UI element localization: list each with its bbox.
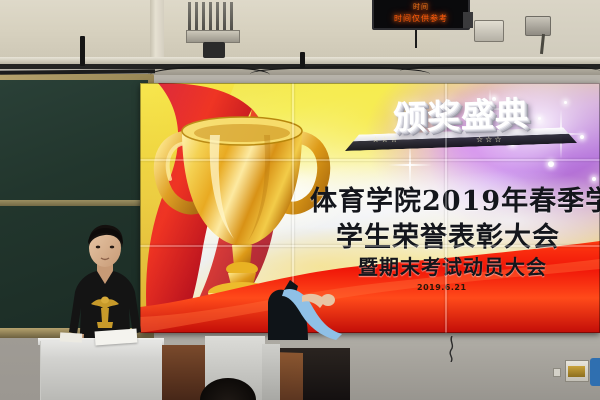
outlet-box-window <box>568 366 585 377</box>
person-reaching-at-screen <box>250 278 346 340</box>
banner-line-2: 学生荣誉表彰大会 <box>336 215 560 254</box>
headline-stars-left: ☆☆☆ <box>372 135 400 144</box>
wall-speaker <box>525 16 551 36</box>
cable-hanger-2 <box>300 52 305 68</box>
wall-led-clock-panel: 时间 时间仅供参考 <box>372 0 470 30</box>
blue-object <box>590 358 600 386</box>
banner-line-3: 暨期末考试动员大会 <box>358 251 547 280</box>
cable-hanger-1 <box>80 36 85 66</box>
banner-date: 2019.6.21 <box>417 283 467 292</box>
speaker-papers-secondary <box>60 332 82 342</box>
antenna-junction-box <box>203 42 225 58</box>
led-text-top: 时间 <box>413 2 429 13</box>
banner-line-1: 体育学院2019年春季学期 <box>310 179 600 218</box>
videowall-seam-horizontal <box>140 159 600 161</box>
sparkle-dot <box>548 161 554 167</box>
white-cabinet-side <box>262 344 280 400</box>
wall-control-box[interactable] <box>474 20 504 42</box>
floor-cable <box>448 336 456 362</box>
led-panel-cable <box>415 30 417 48</box>
lectern <box>40 341 162 400</box>
banner-headline: 颁奖盛典 <box>336 85 586 142</box>
videowall-seam-horizontal <box>140 245 600 247</box>
wall-socket[interactable] <box>553 368 561 377</box>
videowall-seam-vertical <box>445 83 447 333</box>
speaker-papers <box>95 329 138 346</box>
led-video-wall[interactable]: 颁奖盛典 ☆☆☆ ☆☆☆ 体育学院2019年春季学期 学生荣誉表彰大会 暨期末考… <box>140 83 600 333</box>
photo-scene: 时间 时间仅供参考 <box>0 0 600 400</box>
led-text-bottom: 时间仅供参考 <box>394 13 448 24</box>
chalkboard-chalk-rail <box>0 200 150 206</box>
hanging-cable-3 <box>400 64 600 78</box>
led-panel-mount <box>463 12 473 28</box>
headline-stars-right: ☆☆☆ <box>476 135 504 144</box>
